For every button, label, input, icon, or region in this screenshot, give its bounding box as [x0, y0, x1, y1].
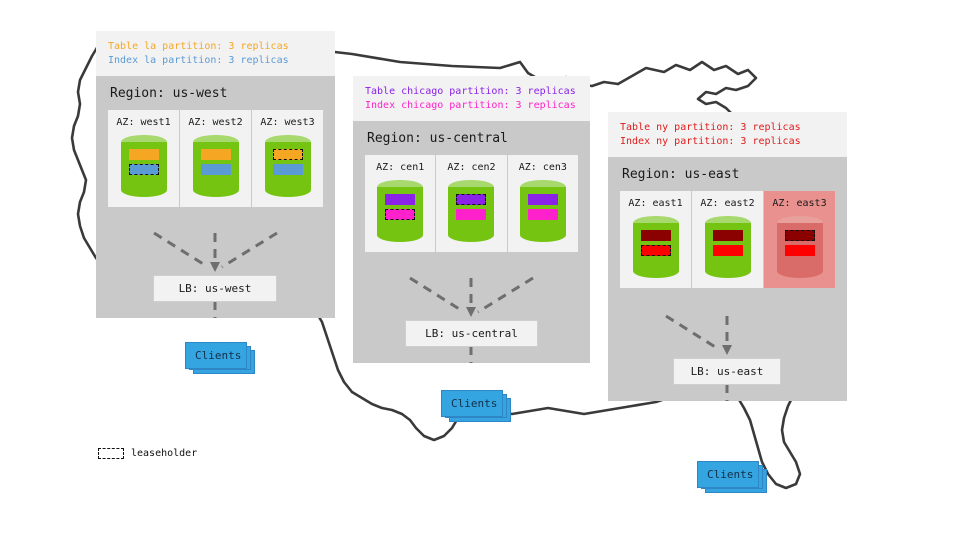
diagram-canvas: Table la partition: 3 replicas Index la … — [0, 0, 960, 540]
clients-box[interactable]: Clients — [441, 390, 503, 417]
leaseholder-legend: leaseholder — [98, 448, 197, 459]
partition-legend-line: Index la partition: 3 replicas — [108, 54, 323, 68]
region-body-us-east: Region: us-east AZ: east1 AZ — [608, 157, 847, 401]
clients-us-east[interactable]: Clients — [697, 461, 759, 488]
lb-label: LB: us-central — [425, 327, 518, 340]
region-us-east: Table ny partition: 3 replicas Index ny … — [608, 112, 847, 401]
lb-label: LB: us-west — [179, 282, 252, 295]
region-body-us-west: Region: us-west AZ: west1 AZ — [96, 76, 335, 318]
load-balancer-us-east[interactable]: LB: us-east — [673, 358, 781, 385]
clients-label: Clients — [195, 349, 241, 362]
leaseholder-legend-label: leaseholder — [131, 448, 197, 459]
clients-label: Clients — [451, 397, 497, 410]
clients-us-central[interactable]: Clients — [441, 390, 503, 417]
region-us-central: Table chicago partition: 3 replicas Inde… — [353, 76, 590, 363]
partition-legend-us-west: Table la partition: 3 replicas Index la … — [96, 31, 335, 76]
load-balancer-us-central[interactable]: LB: us-central — [405, 320, 538, 347]
partition-legend-line: Table la partition: 3 replicas — [108, 40, 323, 54]
region-body-us-central: Region: us-central AZ: cen1 — [353, 121, 590, 363]
dashed-rectangle-icon — [98, 448, 124, 459]
clients-box[interactable]: Clients — [185, 342, 247, 369]
partition-legend-line: Index chicago partition: 3 replicas — [365, 99, 578, 113]
load-balancer-us-west[interactable]: LB: us-west — [153, 275, 277, 302]
clients-us-west[interactable]: Clients — [185, 342, 247, 369]
clients-box[interactable]: Clients — [697, 461, 759, 488]
clients-label: Clients — [707, 468, 753, 481]
lb-label: LB: us-east — [691, 365, 764, 378]
partition-legend-line: Table chicago partition: 3 replicas — [365, 85, 578, 99]
partition-legend-line: Index ny partition: 3 replicas — [620, 135, 835, 149]
partition-legend-line: Table ny partition: 3 replicas — [620, 121, 835, 135]
arrow-head — [210, 262, 220, 272]
arrow-head — [722, 345, 732, 355]
arrow-head — [466, 307, 476, 317]
partition-legend-us-central: Table chicago partition: 3 replicas Inde… — [353, 76, 590, 121]
region-us-west: Table la partition: 3 replicas Index la … — [96, 31, 335, 318]
partition-legend-us-east: Table ny partition: 3 replicas Index ny … — [608, 112, 847, 157]
